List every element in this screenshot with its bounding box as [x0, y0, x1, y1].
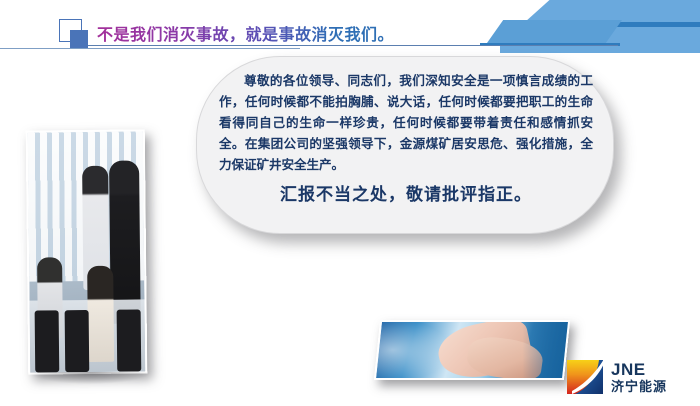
logo-chinese-name: 济宁能源 — [611, 380, 667, 393]
decor-ribbon-top-underline — [525, 22, 700, 27]
jne-logo-mark-icon — [566, 358, 606, 396]
title-square-filled-icon — [70, 30, 88, 48]
body-paragraph: 尊敬的各位领导、同志们，我们深知安全是一项慎言成绩的工作，任何时候都不能拍胸脯、… — [219, 71, 593, 176]
title-hairline — [0, 48, 300, 49]
closing-line: 汇报不当之处，敬请批评指正。 — [219, 183, 593, 207]
company-logo: JNE 济宁能源 — [566, 355, 694, 399]
slide-canvas: 不是我们消灭事故，就是事故消灭我们。 尊敬的各位领导、同志们，我们深知安全是一项… — [0, 0, 700, 406]
content-panel-inner: 尊敬的各位领导、同志们，我们深知安全是一项慎言成绩的工作，任何时候都不能拍胸脯、… — [197, 57, 615, 235]
office-meeting-photo — [26, 129, 148, 374]
page-title: 不是我们消灭事故，就是事故消灭我们。 — [97, 21, 394, 45]
handshake-hands-photo — [374, 320, 570, 380]
photo-chair — [64, 310, 89, 373]
decor-ribbon-top — [525, 0, 700, 22]
photo-chair — [117, 309, 142, 372]
photo-edge-shade — [522, 320, 570, 380]
left-photo-shadow — [30, 372, 150, 384]
handshake-photo-inner — [374, 320, 570, 380]
content-panel: 尊敬的各位领导、同志们，我们深知安全是一项慎言成绩的工作，任何时候都不能拍胸脯、… — [196, 56, 614, 234]
title-divider — [88, 45, 618, 46]
photo-chair — [34, 310, 59, 373]
logo-wordmark: JNE 济宁能源 — [611, 361, 667, 393]
logo-english-name: JNE — [611, 361, 667, 378]
decor-ribbon-band — [500, 27, 700, 53]
decor-ribbon-parallelogram — [487, 20, 622, 43]
photo-person-seated-center — [87, 266, 114, 362]
